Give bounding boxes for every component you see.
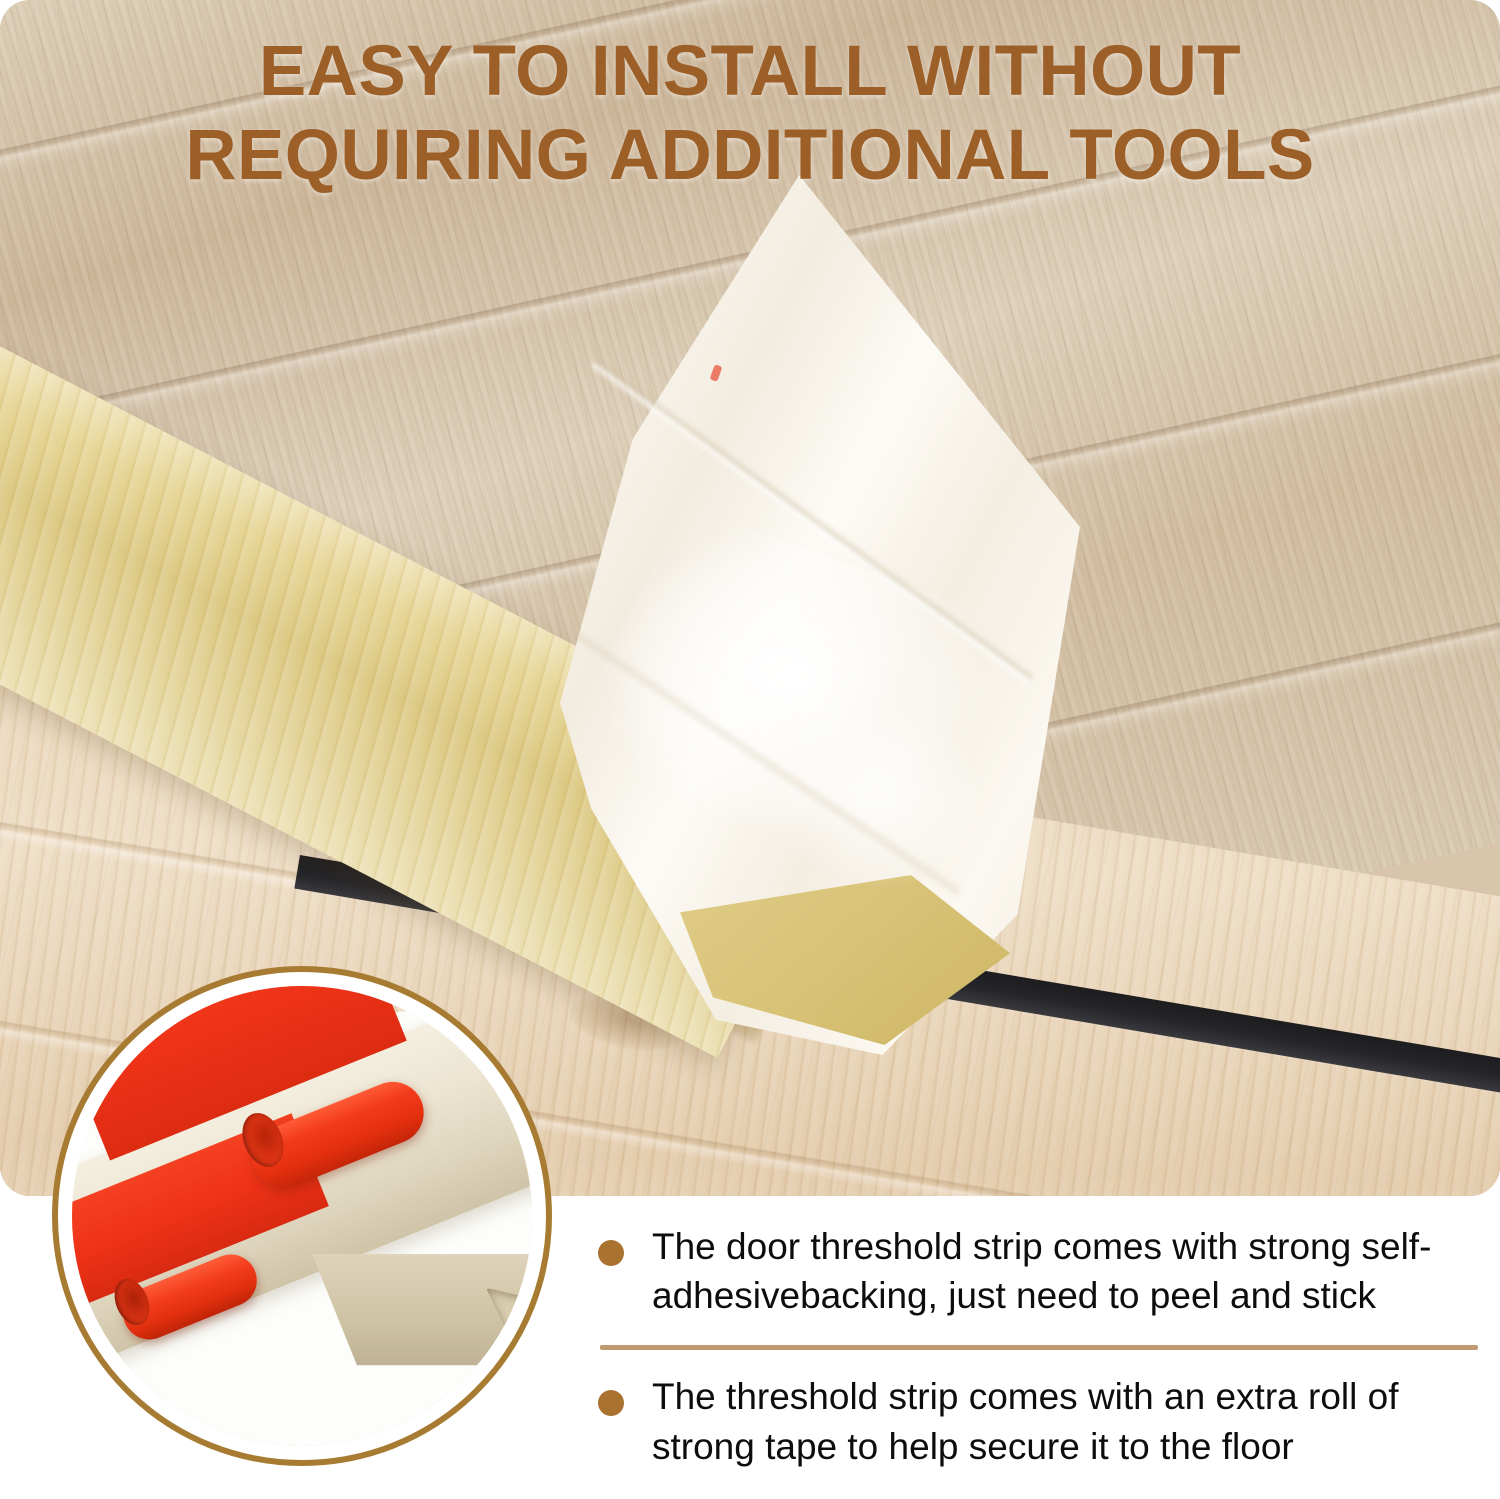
inset-image <box>66 980 538 1452</box>
product-feature-image: EASY TO INSTALL WITHOUT REQUIRING ADDITI… <box>0 0 1500 1499</box>
closeup-inset-circle <box>52 966 552 1466</box>
adhesive-backing-liner <box>560 175 1080 1055</box>
bullet-text: The door threshold strip comes with stro… <box>652 1222 1478 1320</box>
bullet-text: The threshold strip comes with an extra … <box>652 1372 1478 1470</box>
bullet-item: The door threshold strip comes with stro… <box>598 1222 1478 1320</box>
bullet-dot-icon <box>598 1390 624 1416</box>
bullet-dot-icon <box>598 1240 624 1266</box>
headline-text: EASY TO INSTALL WITHOUT REQUIRING ADDITI… <box>0 30 1500 199</box>
bullet-divider <box>600 1345 1478 1350</box>
feature-bullet-list: The door threshold strip comes with stro… <box>598 1222 1478 1471</box>
bullet-item: The threshold strip comes with an extra … <box>598 1372 1478 1470</box>
inset-strip-hollow-channel <box>486 1288 538 1347</box>
